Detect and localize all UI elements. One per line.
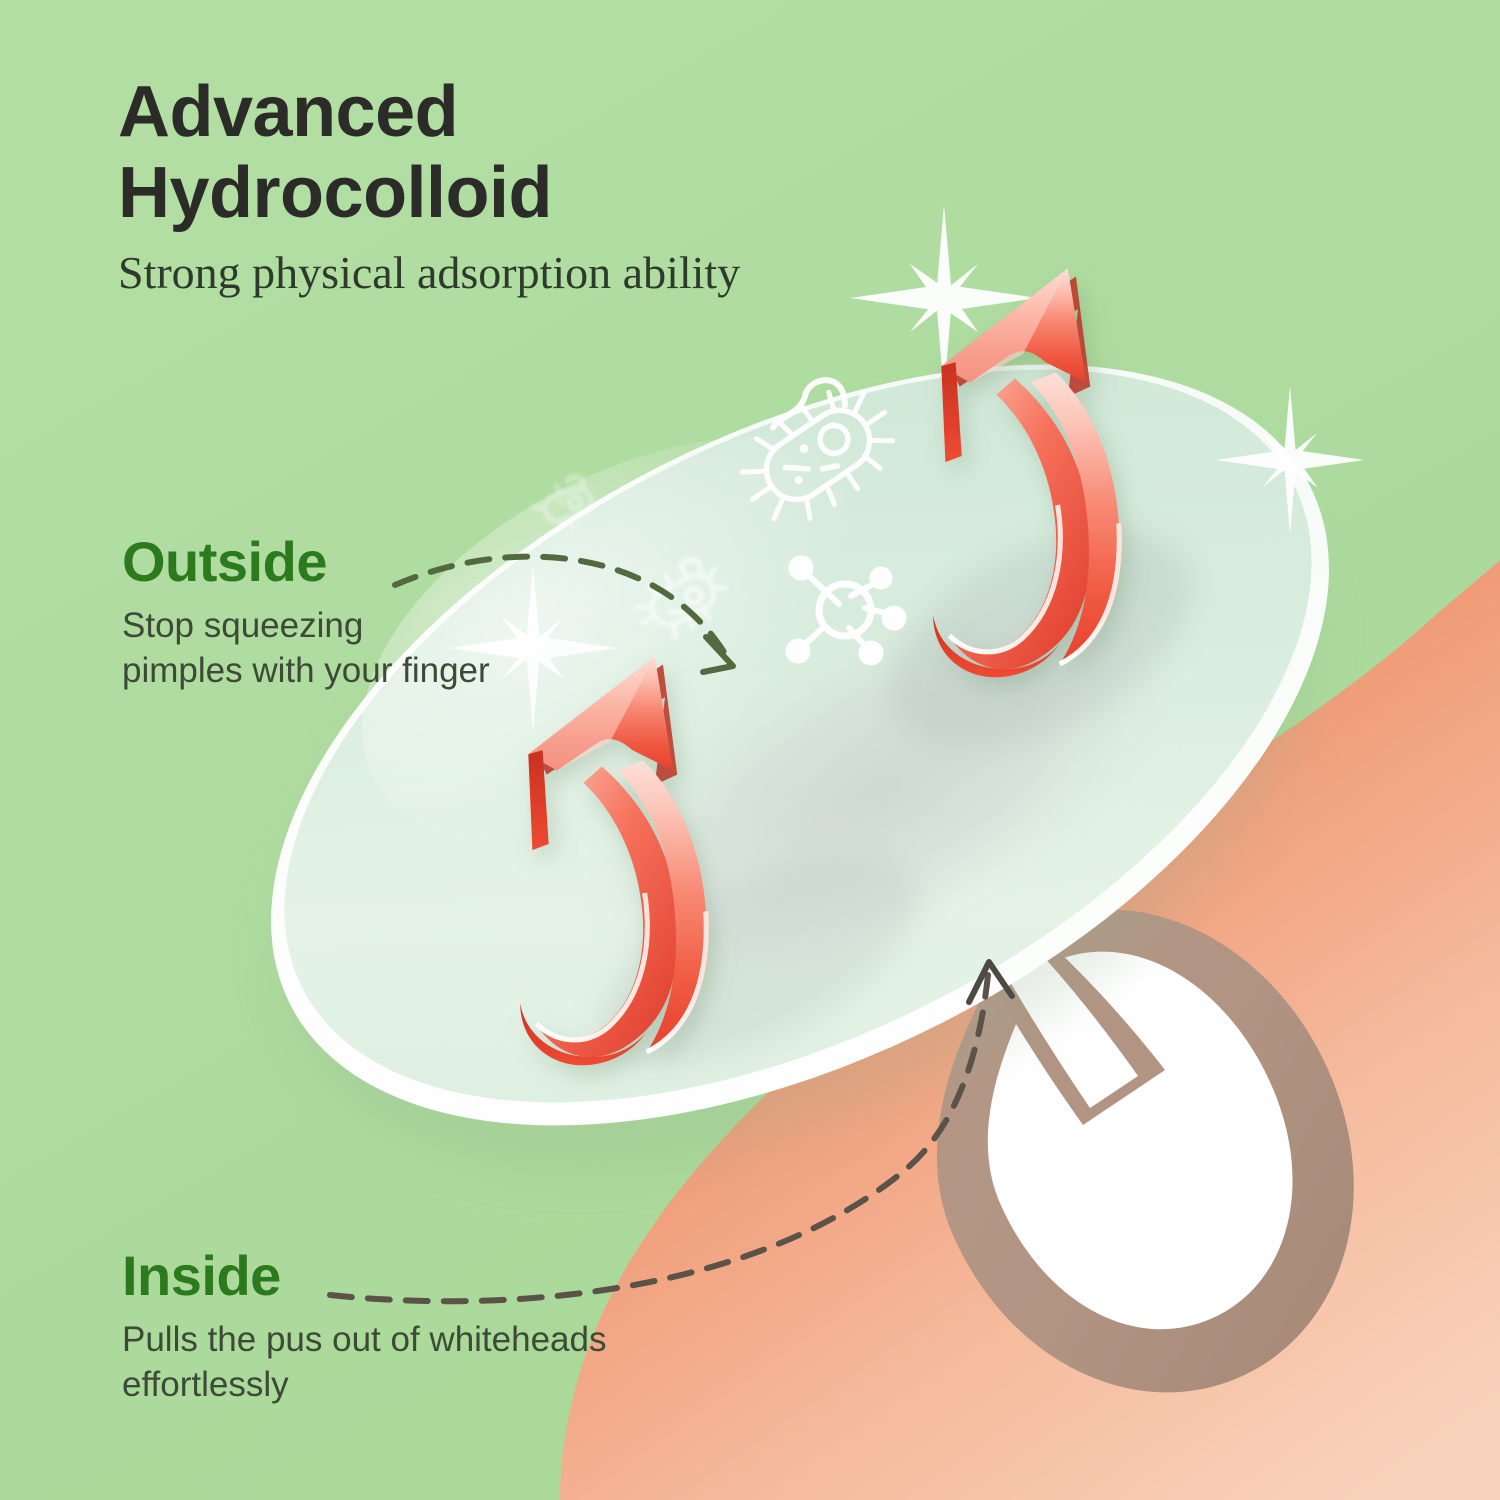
page-subtitle: Strong physical adsorption ability bbox=[118, 245, 898, 301]
callout-inside: Inside Pulls the pus out of whiteheads e… bbox=[122, 1248, 622, 1408]
title-block: Advanced Hydrocolloid Strong physical ad… bbox=[118, 72, 938, 301]
callout-outside-body: Stop squeezing pimples with your finger bbox=[122, 604, 492, 694]
infographic-poster: Advanced Hydrocolloid Strong physical ad… bbox=[0, 0, 1500, 1500]
page-title: Advanced Hydrocolloid bbox=[118, 72, 938, 233]
callout-outside-label: Outside bbox=[122, 534, 492, 590]
page-title-line1: Advanced bbox=[118, 72, 458, 152]
callout-inside-label: Inside bbox=[122, 1248, 622, 1304]
callout-outside: Outside Stop squeezing pimples with your… bbox=[122, 534, 492, 694]
callout-inside-body: Pulls the pus out of whiteheads effortle… bbox=[122, 1318, 622, 1408]
page-title-line2: Hydrocolloid bbox=[118, 153, 552, 233]
